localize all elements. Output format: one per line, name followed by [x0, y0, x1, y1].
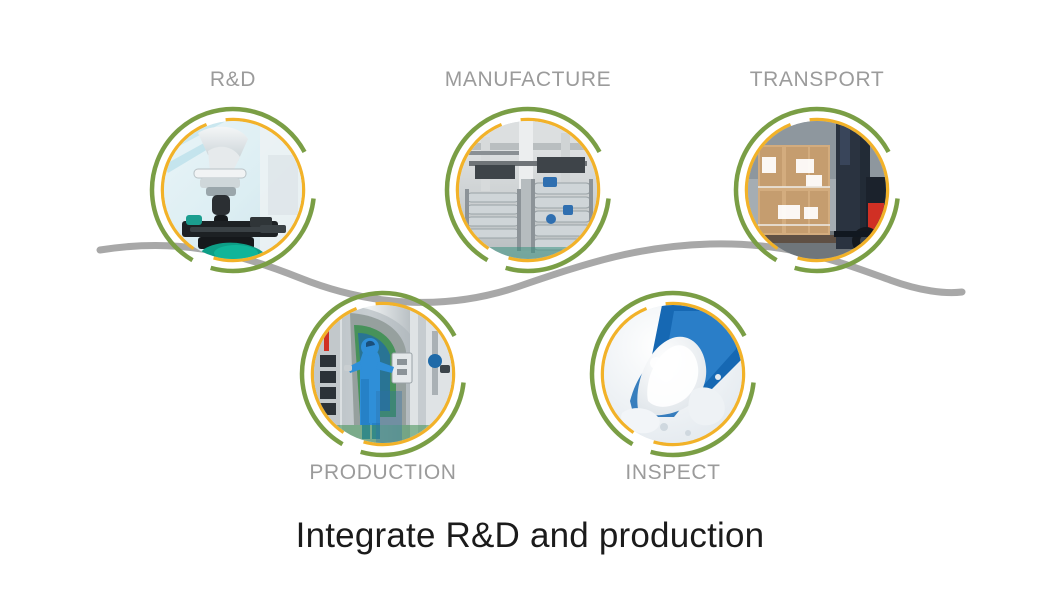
infographic-canvas: R&D: [0, 0, 1060, 596]
node-label-manufacture: MANUFACTURE: [400, 68, 656, 92]
node-label-transport: TRANSPORT: [689, 68, 945, 92]
node-label-inspect: INSPECT: [545, 461, 801, 485]
forklift-pallet-photo: [748, 121, 886, 259]
manufacturing-plant-photo: [459, 121, 597, 259]
cleanroom-operator-photo: [314, 305, 452, 443]
white-powder-scoop-photo: [604, 305, 742, 443]
page-title: Integrate R&D and production: [0, 516, 1060, 556]
process-node-manufacture[interactable]: [440, 102, 616, 278]
process-node-production[interactable]: [295, 286, 471, 462]
node-label-production: PRODUCTION: [255, 461, 511, 485]
process-node-inspect[interactable]: [585, 286, 761, 462]
node-label-rd: R&D: [105, 68, 361, 92]
process-node-transport[interactable]: [729, 102, 905, 278]
microscope-laboratory-photo: [164, 121, 302, 259]
process-node-rd[interactable]: [145, 102, 321, 278]
